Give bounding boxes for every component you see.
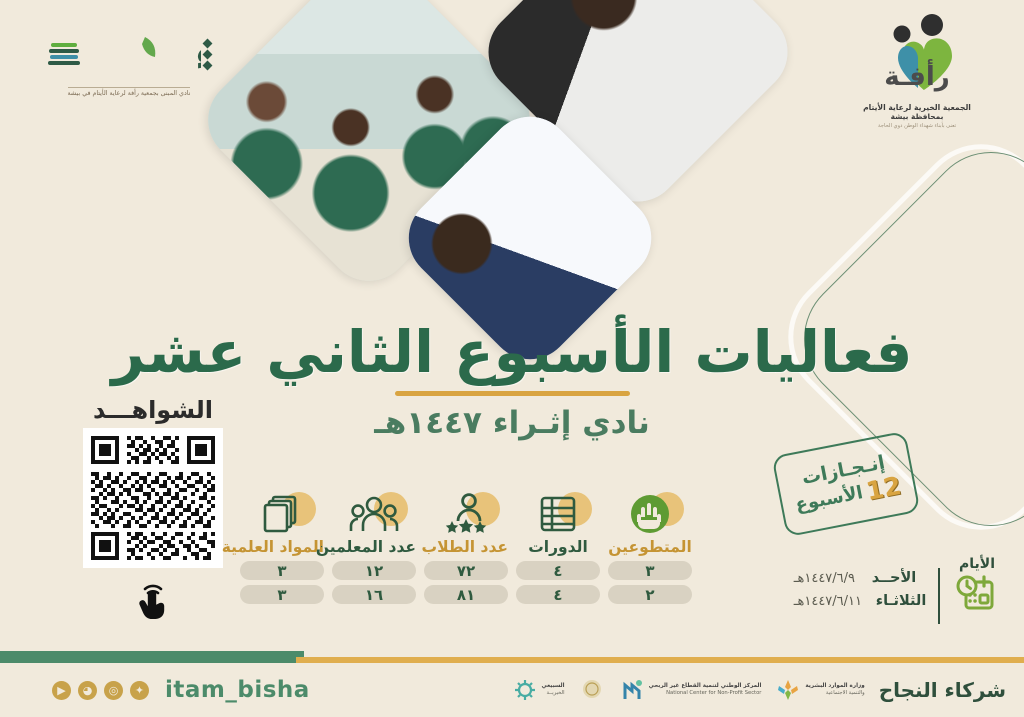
stat-value-week1: ٣ (240, 561, 324, 580)
social-handle: itam_bisha (165, 677, 310, 703)
student-stars-icon (424, 486, 508, 542)
books-icon (48, 43, 80, 65)
partner-human-resources-ministry: وزارة الموارد البشرية والتنمية الاجتماعي… (775, 677, 864, 703)
ethraa-wordmark-icon: إثـراء (83, 29, 201, 79)
rafa-name: رأفـة (832, 62, 1002, 92)
days-block: الأيام الأحــد ١٤٤٧/٦/٩هـ الثلاثـاء (794, 556, 1006, 624)
stat-value-week1: ١٢ (332, 561, 416, 580)
snapchat-icon[interactable]: ◕ (78, 681, 97, 700)
partner-name-sub: والتنمية الاجتماعية (826, 690, 865, 696)
stat-value-week2: ١٦ (332, 585, 416, 604)
table-list-icon (516, 486, 600, 542)
logo-rafa: رأفـة الجمعية الخيرية لرعاية الأيتام بمح… (832, 14, 1002, 129)
partner-name-sub: الخيريــة (546, 690, 564, 696)
people-group-icon (332, 486, 416, 542)
day-name: الثلاثـاء (872, 593, 930, 609)
stat-value-week1: ٣ (608, 561, 692, 580)
svg-text:إثـراء: إثـراء (195, 30, 201, 79)
page-title: فعاليات الأسبوع الثاني عشر (0, 322, 1024, 383)
footer-green-bar (0, 651, 304, 663)
days-title: الأيام (948, 556, 1006, 572)
rafa-line3: تعنى بأبناء شهداء الوطن ذوي الحاجة (832, 123, 1002, 129)
partners-block: شركاء النجاح وزارة الموارد البشرية والتن… (513, 677, 1006, 703)
partner-name-ar: وزارة الموارد البشرية (805, 683, 864, 690)
ethraa-logo-mark: إثـراء (34, 28, 224, 80)
ncnp-logo-icon (619, 677, 645, 703)
logo-dots-icon (204, 40, 211, 69)
day-date: ١٤٤٧/٦/٩هـ (794, 571, 855, 586)
logo-ethraa: إثـراء نادي المبنى بجمعية رأفة لرعاية ال… (34, 28, 224, 99)
calendar-clock-icon (948, 573, 1006, 623)
social-icons[interactable]: ▶ ◕ ◎ ✦ (52, 681, 149, 700)
alsubaie-logo-icon (513, 678, 537, 702)
partner-name-ar: المركز الوطني لتنمية القطاع غير الربحي (649, 683, 762, 690)
instagram-icon[interactable]: ◎ (104, 681, 123, 700)
rafa-line1: الجمعية الخيرية لرعاية الأيتام (832, 103, 1002, 112)
days-divider (938, 568, 940, 624)
title-underline (395, 391, 630, 396)
evidence-qr-block[interactable]: الشواهـــد (68, 396, 238, 628)
stat-value-week2: ٢ (608, 585, 692, 604)
day-row: الثلاثـاء ١٤٤٧/٦/١١هـ (794, 593, 930, 609)
footer: ▶ ◕ ◎ ✦ itam_bisha شركاء النجاح وزارة ال… (0, 663, 1024, 717)
gold-seal-icon (579, 677, 605, 703)
stat-value-week2: ٤ (516, 585, 600, 604)
qr-label: الشواهـــد (68, 396, 238, 424)
raised-hands-circle-icon (608, 486, 692, 542)
stat-scientific-materials: المواد العلمية ٣ ٣ (240, 486, 324, 604)
stats-row: المواد العلمية ٣ ٣ عدد المعلمين ١٢ ١٦ (240, 486, 692, 604)
day-date: ١٤٤٧/٦/١١هـ (794, 594, 862, 609)
partner-name-ar: السبيعي (541, 683, 564, 690)
youtube-icon[interactable]: ▶ (52, 681, 71, 700)
tap-hand-icon (68, 572, 238, 628)
stat-value-week2: ٨١ (424, 585, 508, 604)
twitter-icon[interactable]: ✦ (130, 681, 149, 700)
rafa-line2: بمحافظة بيشة (832, 112, 1002, 121)
stat-teachers-count: عدد المعلمين ١٢ ١٦ (332, 486, 416, 604)
day-name: الأحــد (865, 570, 923, 586)
ethraa-tagline: نادي المبنى بجمعية رأفة لرعاية الأيتام ف… (68, 87, 191, 98)
stat-value-week1: ٤ (516, 561, 600, 580)
stat-courses: الدورات ٤ ٤ (516, 486, 600, 604)
rafa-heart-icon: رأفـة (832, 14, 1002, 102)
achievements-stamp-badge: إنـجـازات 12 الأسبوع (771, 431, 920, 537)
documents-stack-icon (240, 486, 324, 542)
days-rows: الأحــد ١٤٤٧/٦/٩هـ الثلاثـاء ١٤٤٧/٦/١١هـ (794, 570, 930, 616)
poster-canvas: إثـراء نادي المبنى بجمعية رأفة لرعاية ال… (0, 0, 1024, 717)
footer-social-block: ▶ ◕ ◎ ✦ itam_bisha (38, 677, 310, 703)
partner-alsubaie-charity: السبيعي الخيريــة (513, 678, 564, 702)
stat-volunteers: المتطوعين ٣ ٢ (608, 486, 692, 604)
day-row: الأحــد ١٤٤٧/٦/٩هـ (794, 570, 930, 586)
stamp-week-number: 12 (864, 472, 903, 503)
partner-gold-seal (579, 677, 605, 703)
partners-title: شركاء النجاح (879, 678, 1006, 702)
partner-national-center-nonprofit: المركز الوطني لتنمية القطاع غير الربحي N… (619, 677, 762, 703)
stat-value-week2: ٣ (240, 585, 324, 604)
stat-students-count: عدد الطلاب ٧٢ ٨١ (424, 486, 508, 604)
hrsd-logo-icon (775, 677, 801, 703)
stat-value-week1: ٧٢ (424, 561, 508, 580)
qr-code[interactable] (83, 428, 223, 568)
partner-name-en: National Center for Non-Profit Sector (666, 690, 761, 696)
